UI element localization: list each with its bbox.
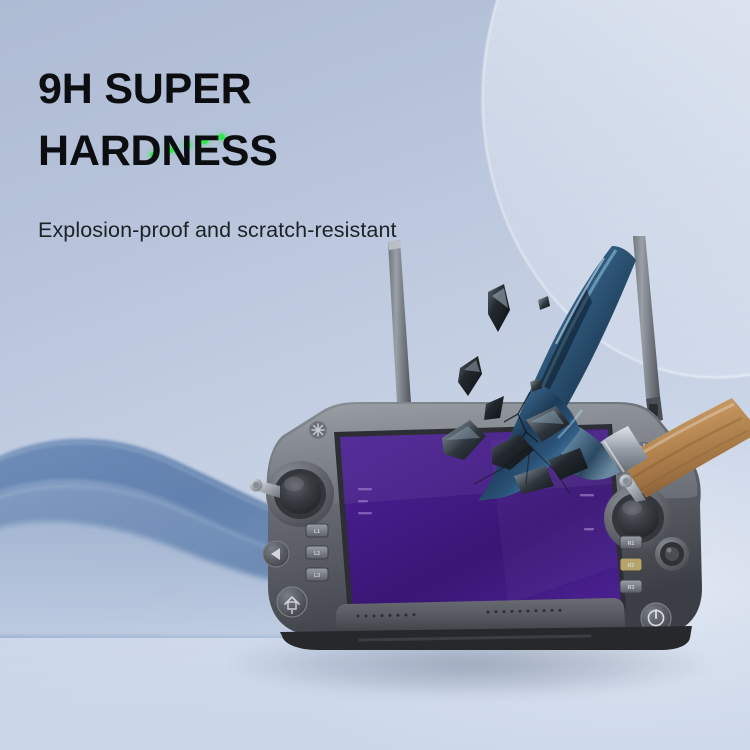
back-arrow-button[interactable] [263,541,289,567]
headline-line-2: HARDNESS [38,120,278,182]
scroll-dial[interactable] [655,537,689,571]
button-L1[interactable]: L1 [306,524,328,537]
svg-text:R3: R3 [628,585,635,591]
subtitle: Explosion-proof and scratch-resistant [38,218,397,243]
svg-text:L1: L1 [314,529,320,535]
antenna-left[interactable] [388,240,412,416]
glass-shards [430,270,660,520]
page-title: 9H SUPER HARDNESS [38,58,278,182]
button-L3[interactable]: L3 [306,568,328,581]
button-R1[interactable]: R1 [620,536,642,549]
button-R3[interactable]: R3 [620,580,642,593]
svg-text:R1: R1 [628,541,635,547]
promo-banner: L1 L2 L3 R1 R2 [0,0,750,750]
button-R2[interactable]: R2 [620,558,642,571]
button-L2[interactable]: L2 [306,546,328,559]
fan-vent-icon [309,421,327,439]
joystick-left[interactable] [250,461,335,527]
svg-text:L3: L3 [314,573,320,579]
headline-line-1: 9H SUPER [38,58,278,120]
svg-text:L2: L2 [314,551,320,557]
return-to-home-button[interactable] [277,587,307,617]
svg-text:R2: R2 [628,563,635,569]
